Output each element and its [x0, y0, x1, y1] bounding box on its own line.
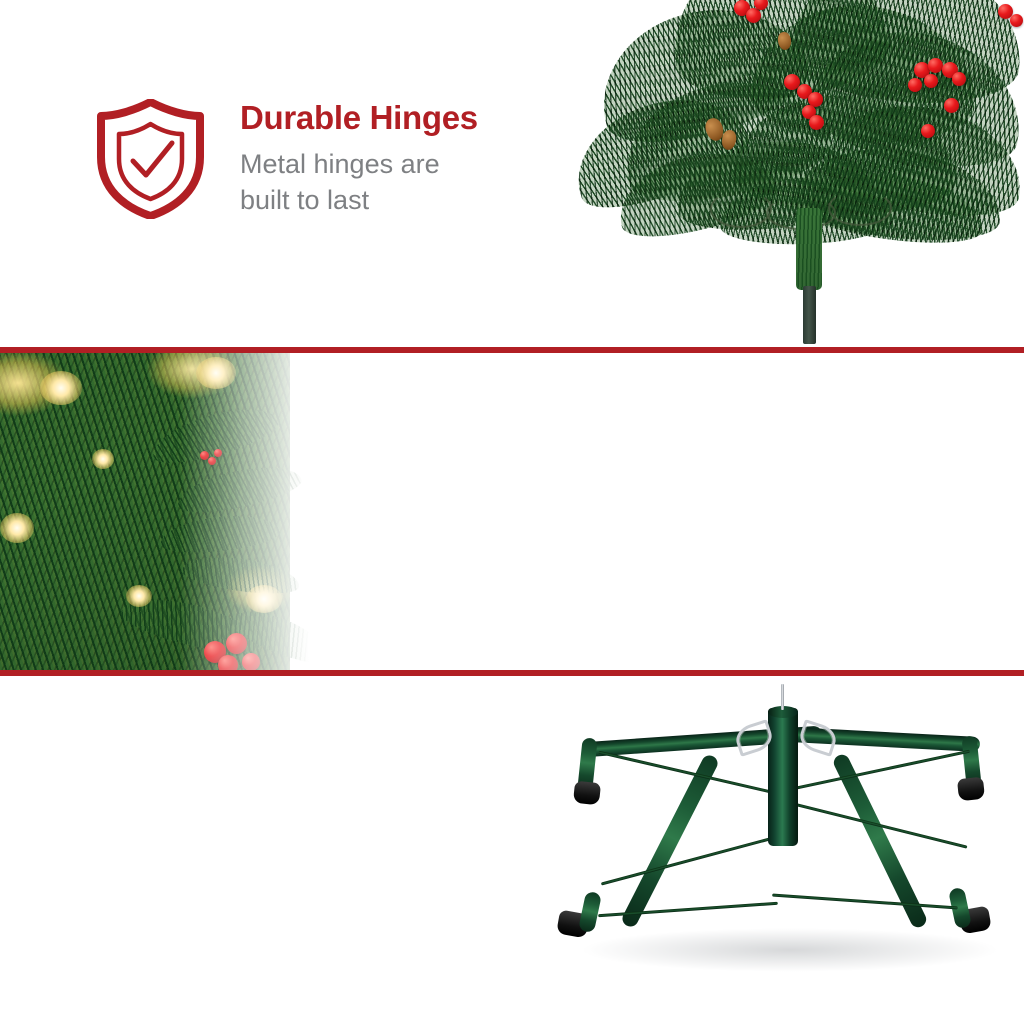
feature-panel-sturdy-base: Sturdy Base A reliable stand for your tr…	[0, 676, 1024, 1024]
feature-body-line: Metal hinges are	[240, 146, 478, 182]
feature-panel-durable-hinges: Durable Hinges Metal hinges are built to…	[0, 0, 1024, 347]
feature-panel-pvc-branches: PVC Branches Flame-retardant for safety …	[0, 353, 1024, 670]
infographic-board: Durable Hinges Metal hinges are built to…	[0, 0, 1024, 1024]
feature-body-line: built to last	[240, 182, 478, 218]
photo-tree-branch	[556, 0, 1024, 347]
photo-tree-stand	[540, 676, 1024, 1024]
photo-lit-tree	[0, 353, 330, 670]
feature-heading-durable-hinges: Durable Hinges	[240, 101, 478, 136]
photo-edge-fade	[180, 353, 330, 670]
shield-check-icon	[93, 99, 208, 219]
feature-body-durable-hinges: Metal hinges are built to last	[240, 146, 478, 218]
feature-text-durable-hinges: Durable Hinges Metal hinges are built to…	[240, 101, 478, 218]
